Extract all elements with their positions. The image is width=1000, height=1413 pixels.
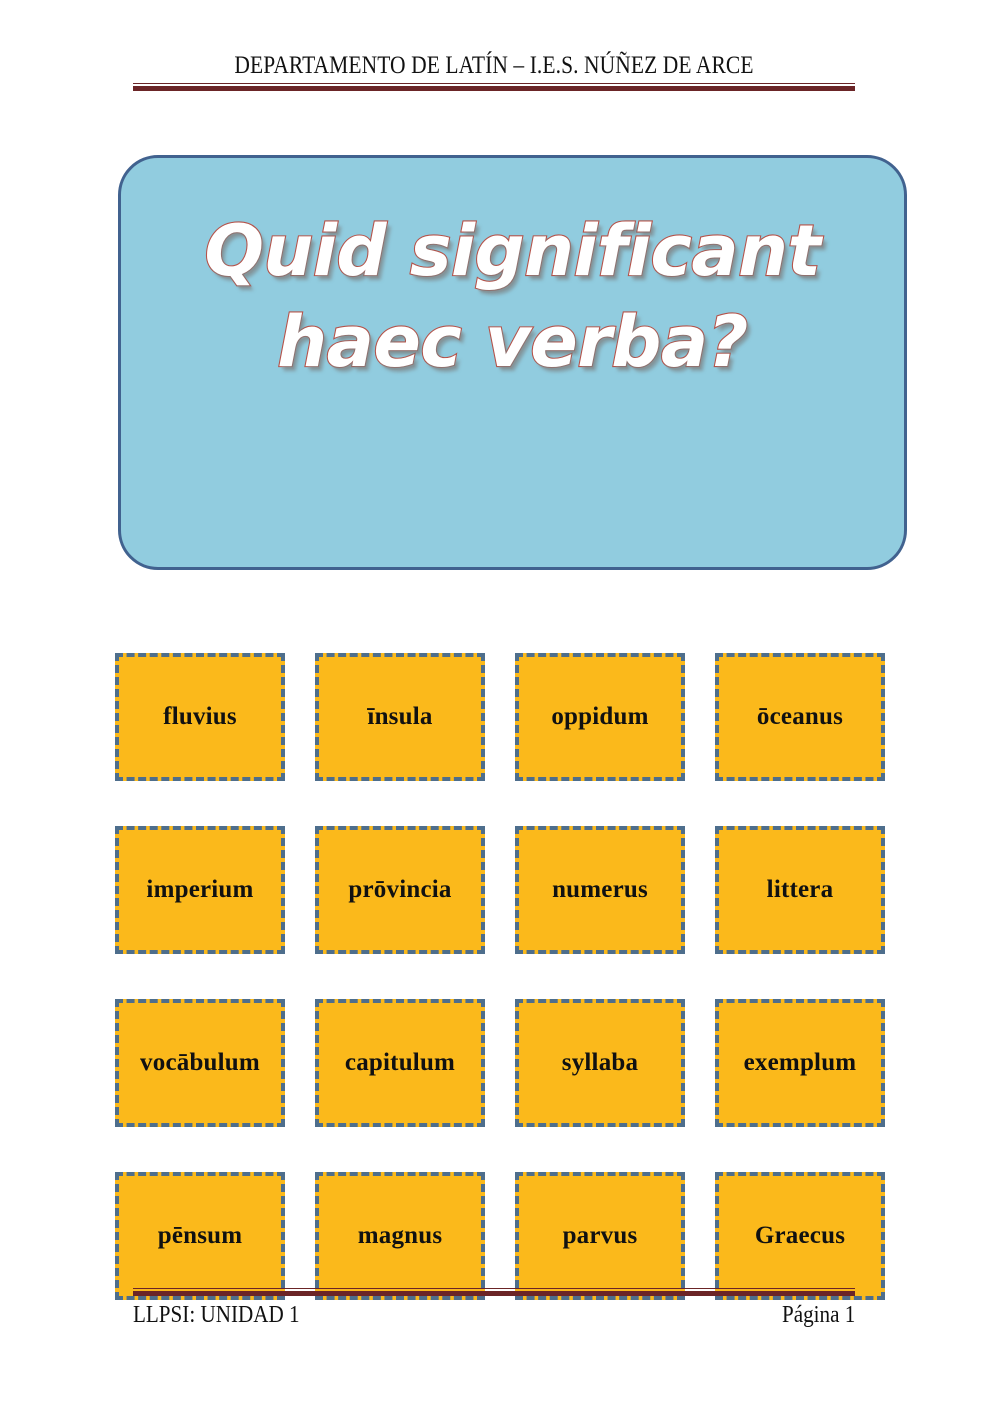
banner-title-line-2: haec verba? xyxy=(121,297,904,388)
title-banner: Quid significant haec verba? xyxy=(118,155,907,570)
word-card[interactable]: numerus xyxy=(515,826,685,954)
footer-rule-thin xyxy=(133,1288,855,1289)
word-card[interactable]: fluvius xyxy=(115,653,285,781)
header-rule-thick xyxy=(133,86,855,91)
word-card[interactable]: pēnsum xyxy=(115,1172,285,1300)
word-card[interactable]: ōceanus xyxy=(715,653,885,781)
footer-rule-thick xyxy=(133,1291,855,1296)
word-card-label: ōceanus xyxy=(757,703,843,731)
header-rule xyxy=(133,83,855,91)
page-footer: LLPSI: UNIDAD 1 Página 1 xyxy=(133,1288,855,1329)
word-card[interactable]: Graecus xyxy=(715,1172,885,1300)
word-card[interactable]: īnsula xyxy=(315,653,485,781)
word-card[interactable]: littera xyxy=(715,826,885,954)
header-rule-thin xyxy=(133,83,855,84)
word-card-label: capitulum xyxy=(345,1049,455,1077)
word-card-label: pēnsum xyxy=(158,1222,243,1250)
worksheet-page: DEPARTAMENTO DE LATÍN – I.E.S. NÚÑEZ DE … xyxy=(0,0,1000,1413)
page-number-label: Página 1 xyxy=(782,1302,855,1329)
word-card-label: Graecus xyxy=(755,1222,845,1250)
footer-row: LLPSI: UNIDAD 1 Página 1 xyxy=(133,1302,855,1329)
word-card-label: oppidum xyxy=(551,703,648,731)
word-card-label: magnus xyxy=(358,1222,443,1250)
word-card[interactable]: vocābulum xyxy=(115,999,285,1127)
word-card-label: syllaba xyxy=(562,1049,638,1077)
word-card[interactable]: syllaba xyxy=(515,999,685,1127)
page-header: DEPARTAMENTO DE LATÍN – I.E.S. NÚÑEZ DE … xyxy=(133,52,855,91)
word-card-label: exemplum xyxy=(744,1049,857,1077)
word-card[interactable]: imperium xyxy=(115,826,285,954)
word-card-label: parvus xyxy=(563,1222,638,1250)
word-card-label: littera xyxy=(767,876,834,904)
banner-title-line-1: Quid significant xyxy=(121,206,904,297)
word-card[interactable]: magnus xyxy=(315,1172,485,1300)
word-card-label: prōvincia xyxy=(348,876,451,904)
word-card-label: īnsula xyxy=(367,703,432,731)
footer-rule xyxy=(133,1288,855,1296)
footer-source-label: LLPSI: UNIDAD 1 xyxy=(133,1302,300,1329)
word-card[interactable]: parvus xyxy=(515,1172,685,1300)
banner-title: Quid significant haec verba? xyxy=(121,206,904,388)
word-card[interactable]: prōvincia xyxy=(315,826,485,954)
word-card-label: vocābulum xyxy=(140,1049,260,1077)
word-card[interactable]: exemplum xyxy=(715,999,885,1127)
word-card-label: fluvius xyxy=(163,703,237,731)
word-card-grid: fluvius īnsula oppidum ōceanus imperium … xyxy=(115,653,885,1300)
word-card-label: imperium xyxy=(146,876,253,904)
word-card[interactable]: oppidum xyxy=(515,653,685,781)
word-card-label: numerus xyxy=(552,876,648,904)
word-card[interactable]: capitulum xyxy=(315,999,485,1127)
header-title: DEPARTAMENTO DE LATÍN – I.E.S. NÚÑEZ DE … xyxy=(184,52,805,80)
